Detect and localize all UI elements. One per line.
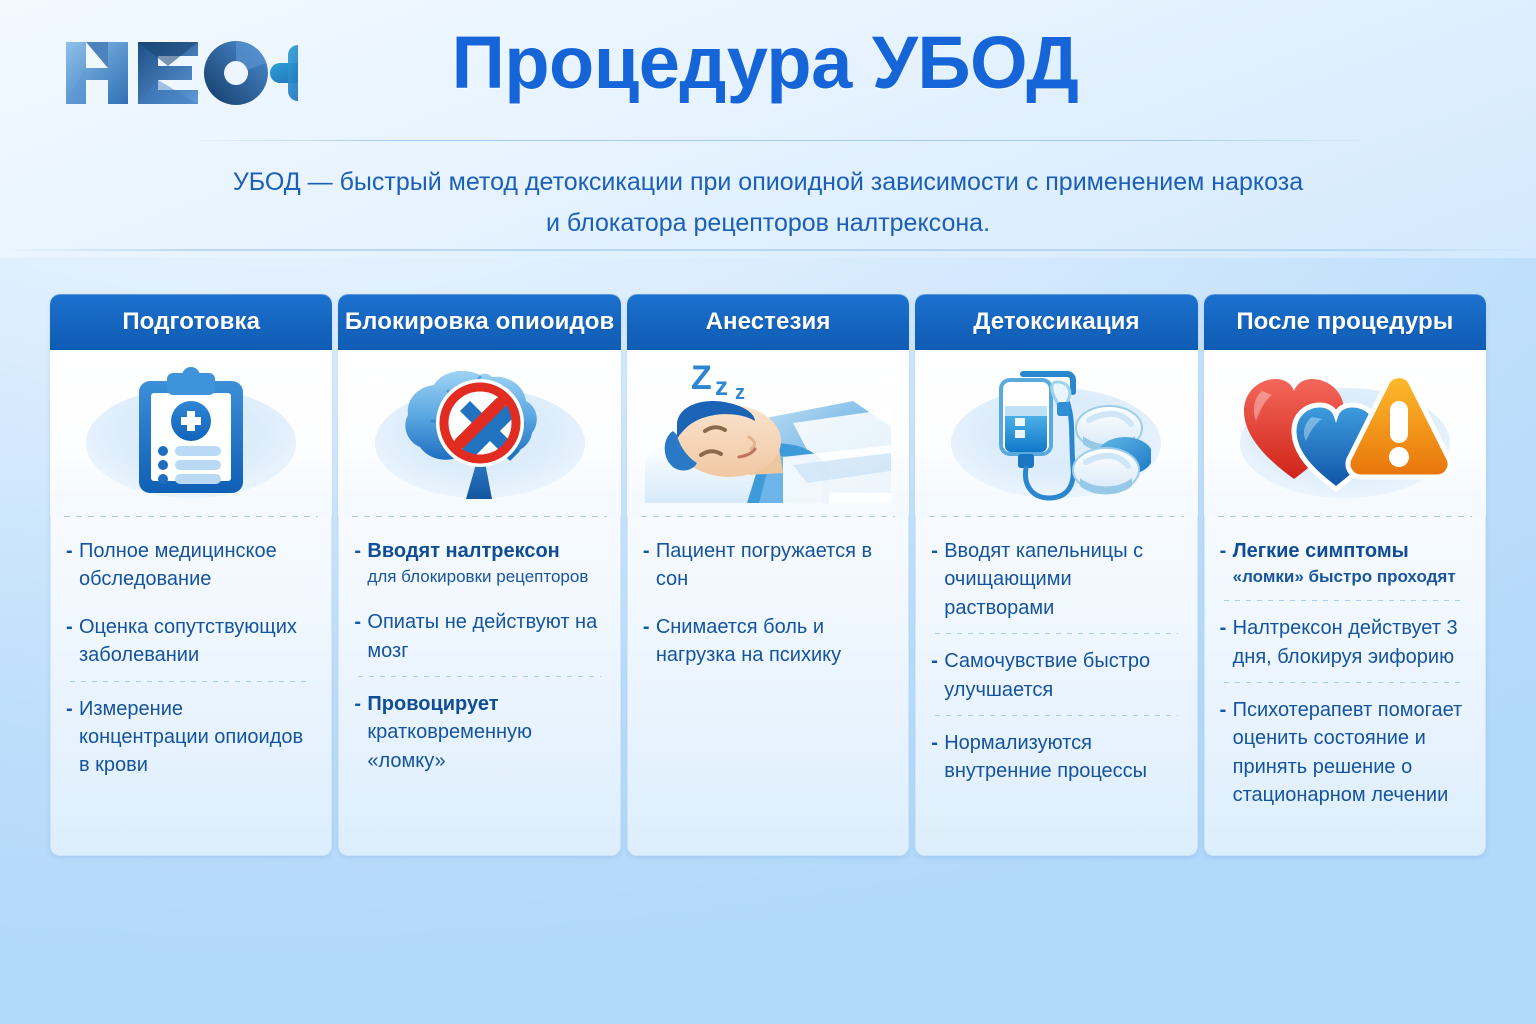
list-item: - Пациент погружается в сон [643, 537, 893, 594]
card-divider [641, 516, 895, 517]
card-divider [64, 516, 318, 517]
sleeping-patient-icon: Z z z [643, 353, 893, 513]
list-item-text: Пациент погружается в сон [656, 537, 893, 594]
card-header-opioid-blocking: Блокировка опиоидов [338, 294, 620, 350]
bullet-dash: - [931, 537, 944, 622]
bullet-dash: - [643, 537, 656, 594]
list-item: - Оценка сопутствующих заболевании [66, 613, 316, 670]
bullet-dash: - [931, 729, 944, 786]
item-separator [1224, 600, 1466, 601]
list-item: - Снимается боль и нагрузка на психику [643, 613, 893, 670]
card-header-anesthesia: Анестезия [627, 294, 909, 350]
item-separator [935, 633, 1177, 634]
list-item: - Вводят капельницы с очищающими раствор… [931, 537, 1181, 622]
page-title: Процедура УБОД [330, 22, 1200, 103]
card-body-opioid-blocking: - Вводят налтрексон для блокировки рецеп… [338, 517, 620, 856]
list-item: - Самочувствие быстро улучшается [931, 647, 1181, 704]
zzz-label: Z [691, 359, 712, 397]
card-after-procedure[interactable]: После процедуры [1204, 294, 1486, 856]
card-preparation[interactable]: Подготовка [50, 294, 332, 856]
card-body-preparation: - Полное медицинское обследование - Оцен… [50, 517, 332, 856]
icon-area-detoxification [915, 350, 1197, 516]
item-separator [358, 676, 600, 677]
card-title-detoxification: Детоксикация [973, 308, 1139, 336]
card-body-anesthesia: - Пациент погружается в сон - Снимается … [627, 517, 909, 856]
card-divider [352, 516, 606, 517]
icon-area-after-procedure [1204, 350, 1486, 516]
band-bottom-divider [0, 249, 1536, 251]
iv-drip-pills-icon [961, 362, 1151, 504]
bullet-dash: - [1220, 696, 1233, 810]
neo-plus-logo [58, 32, 298, 114]
icon-area-opioid-blocking [338, 350, 620, 516]
bullet-dash: - [931, 647, 944, 704]
svg-text:z: z [735, 382, 745, 404]
card-header-detoxification: Детоксикация [915, 294, 1197, 350]
list-item-subtext: «ломки» быстро проходят [1233, 565, 1456, 589]
list-item: - Полное медицинское обследование [66, 537, 316, 594]
bullet-dash: - [354, 537, 367, 589]
clipboard-medical-icon [127, 367, 255, 499]
card-opioid-blocking[interactable]: Блокировка опиоидов [338, 294, 620, 856]
list-item-text: Вводят капельницы с очищающими растворам… [944, 537, 1181, 622]
list-item-text: Нормализуются внутренние процессы [944, 729, 1181, 786]
card-header-after-procedure: После процедуры [1204, 294, 1486, 350]
list-item-text: Самочувствие быстро улучшается [944, 647, 1181, 704]
list-item-text: Налтрексон действует 3 дня, блокируя эиф… [1233, 614, 1470, 671]
subtitle-line-2: и блокатора рецепторов налтрексона. [168, 203, 1368, 244]
list-item-text: Вводят налтрексон [367, 537, 588, 565]
item-separator [935, 715, 1177, 716]
list-item-text: Полное медицинское обследование [79, 537, 316, 594]
card-anesthesia[interactable]: Анестезия Z z z [627, 294, 909, 856]
page-subtitle: УБОД — быстрый метод детоксикации при оп… [168, 162, 1368, 243]
card-title-anesthesia: Анестезия [706, 308, 831, 336]
card-header-preparation: Подготовка [50, 294, 332, 350]
list-item: - Нормализуются внутренние процессы [931, 729, 1181, 786]
card-title-preparation: Подготовка [122, 308, 260, 336]
bullet-dash: - [66, 537, 79, 594]
brain-blocked-icon [392, 365, 568, 501]
header-divider [178, 140, 1378, 141]
list-item-text: Снимается боль и нагрузка на психику [656, 613, 893, 670]
list-item: - Психотерапевт помогает оценить состоян… [1220, 696, 1470, 810]
hearts-warning-icon [1238, 367, 1452, 499]
list-item: - Опиаты не действуют на мозг [354, 608, 604, 665]
card-body-detoxification: - Вводят капельницы с очищающими раствор… [915, 517, 1197, 856]
list-item: - Вводят налтрексон для блокировки рецеп… [354, 537, 604, 589]
list-item: - Провоцирует кратковременную «ломку» [354, 690, 604, 775]
bullet-dash: - [1220, 614, 1233, 671]
icon-area-preparation [50, 350, 332, 516]
bullet-dash: - [66, 613, 79, 670]
card-detoxification[interactable]: Детоксикация [915, 294, 1197, 856]
bullet-dash: - [1220, 537, 1233, 589]
bullet-dash: - [354, 690, 367, 775]
list-item-text: Измерение концентрации опиоидов в крови [79, 695, 316, 780]
list-item-text: Провоцирует [367, 690, 604, 718]
subtitle-line-1: УБОД — быстрый метод детоксикации при оп… [168, 162, 1368, 203]
item-separator [70, 681, 312, 682]
steps-row: Подготовка [50, 294, 1486, 856]
list-item-text: Опиаты не действуют на мозг [367, 608, 604, 665]
card-title-opioid-blocking: Блокировка опиоидов [345, 308, 615, 336]
list-item-text: Психотерапевт помогает оценить состояние… [1233, 696, 1470, 810]
bullet-dash: - [643, 613, 656, 670]
card-divider [1218, 516, 1472, 517]
list-item: - Легкие симптомы «ломки» быстро проходя… [1220, 537, 1470, 589]
item-separator [1224, 682, 1466, 683]
list-item-subtext: кратковременную «ломку» [367, 721, 532, 771]
list-item: - Налтрексон действует 3 дня, блокируя э… [1220, 614, 1470, 671]
bullet-dash: - [66, 695, 79, 780]
card-title-after-procedure: После процедуры [1236, 308, 1453, 336]
card-divider [929, 516, 1183, 517]
svg-text:z: z [715, 371, 728, 401]
icon-area-anesthesia: Z z z [627, 350, 909, 516]
infographic-canvas: Процедура УБОД УБОД — быстрый метод дето… [0, 0, 1536, 1024]
card-body-after-procedure: - Легкие симптомы «ломки» быстро проходя… [1204, 517, 1486, 856]
list-item-subtext: для блокировки рецепторов [367, 565, 588, 589]
list-item: - Измерение концентрации опиоидов в кров… [66, 695, 316, 780]
list-item-text: Легкие симптомы [1233, 537, 1456, 565]
bullet-dash: - [354, 608, 367, 665]
list-item-text: Оценка сопутствующих заболевании [79, 613, 316, 670]
